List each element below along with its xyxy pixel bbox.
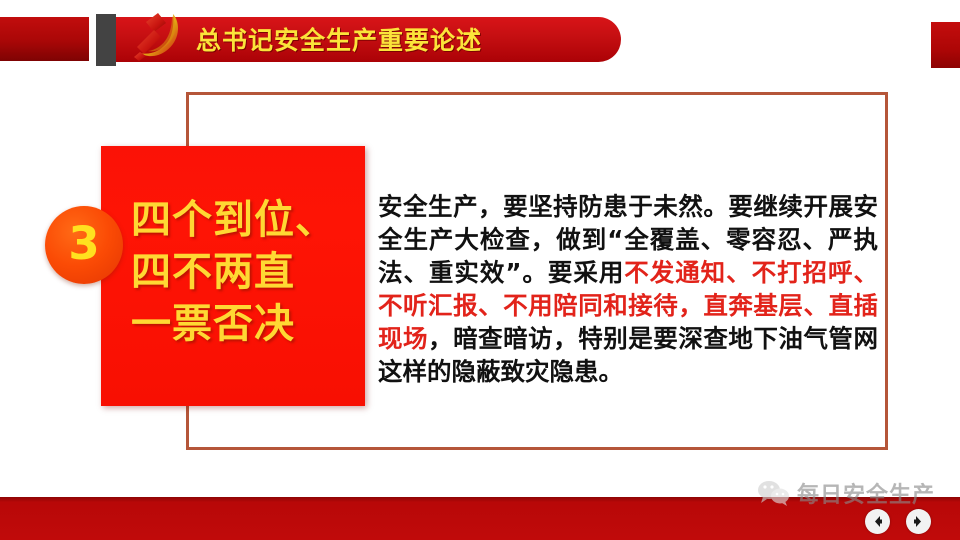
body-segment-2: ，暗查暗访，特别是要深查地下油气管网这样的隐蔽致灾隐患。 xyxy=(378,324,878,386)
body-paragraph: 安全生产，要坚持防患于未然。要继续开展安全生产大检查，做到“全覆盖、零容忍、严执… xyxy=(378,190,878,388)
section-title-box: 四个到位、 四不两直 一票否决 xyxy=(101,146,365,406)
section-title-line-1: 四个到位、 xyxy=(131,194,351,246)
prev-slide-button[interactable] xyxy=(865,509,890,534)
section-title-line-2: 四不两直 xyxy=(131,246,351,298)
section-number-label: 3 xyxy=(45,206,123,284)
nav-buttons xyxy=(865,509,931,534)
arrow-right-icon xyxy=(912,515,925,528)
section-title-line-3: 一票否决 xyxy=(131,298,351,350)
section-number-badge: 3 xyxy=(45,206,123,284)
section-title-text: 四个到位、 四不两直 一票否决 xyxy=(101,194,365,350)
header-right-accent-block xyxy=(931,22,960,68)
watermark-label: 每日安全生产 xyxy=(797,477,935,509)
arrow-left-icon xyxy=(871,515,884,528)
next-slide-button[interactable] xyxy=(906,509,931,534)
slide-canvas: 总书记安全生产重要论述 四个到位、 四不两直 一票否决 3 安全生产，要坚持防患… xyxy=(0,0,960,540)
header-gray-accent-block xyxy=(96,14,116,66)
party-emblem-hammer-sickle-icon xyxy=(128,8,190,66)
watermark: 每日安全生产 xyxy=(757,476,957,510)
wechat-logo-icon xyxy=(757,479,791,507)
header-title: 总书记安全生产重要论述 xyxy=(196,24,616,57)
header-left-accent-block xyxy=(0,17,89,61)
